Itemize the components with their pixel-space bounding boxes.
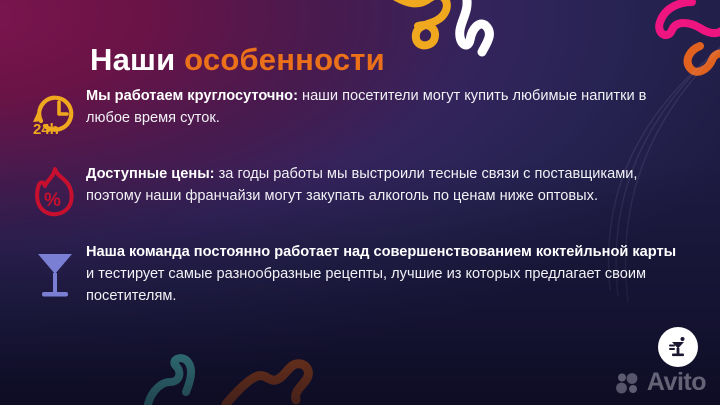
list-item: % Доступные цены: за годы работы мы выст…: [24, 162, 684, 226]
flame-percent-icon: %: [24, 162, 86, 226]
avito-logo-icon: [616, 372, 642, 394]
list-item-body: и тестирует самые разнообразные рецепты,…: [86, 266, 646, 304]
page-title-plain: Наши: [90, 42, 175, 77]
list-item-heading: Наша команда постоянно работает над сове…: [86, 244, 676, 260]
avito-watermark: Avito: [616, 370, 706, 395]
list-item-text: Наша команда постоянно работает над сове…: [86, 240, 684, 308]
cocktail-glass-icon: [24, 240, 86, 308]
decor-squiggle-white: [460, 0, 490, 52]
avito-watermark-text: Avito: [647, 370, 706, 395]
page-title: Наши особенности: [90, 43, 385, 78]
brand-mark-icon: [665, 334, 691, 360]
promo-slide: Наши особенности 24h Мы работаем круглос…: [0, 0, 720, 405]
svg-text:24h: 24h: [33, 121, 59, 138]
page-title-accent: особенности: [184, 42, 385, 77]
flame-percent-icon-svg: %: [33, 166, 77, 218]
list-item-text: Доступные цены: за годы работы мы выстро…: [86, 162, 684, 207]
decor-squiggle-amber: [388, 0, 447, 45]
decor-squiggle-orange-bottom: [226, 364, 308, 404]
svg-text:%: %: [44, 190, 61, 211]
clock-24h-icon-svg: 24h: [31, 88, 79, 138]
decor-squiggle-magenta: [659, 2, 720, 35]
cocktail-glass-icon-svg: [33, 248, 77, 300]
list-item-heading: Доступные цены:: [86, 166, 215, 182]
brand-logo-badge: [658, 327, 698, 367]
list-item: Наша команда постоянно работает над сове…: [24, 240, 684, 308]
features-list: 24h Мы работаем круглосуточно: наши посе…: [24, 84, 684, 322]
decor-squiggle-orange-right: [688, 46, 720, 72]
list-item-heading: Мы работаем круглосуточно:: [86, 88, 298, 104]
clock-24h-icon: 24h: [24, 84, 86, 148]
list-item: 24h Мы работаем круглосуточно: наши посе…: [24, 84, 684, 148]
list-item-text: Мы работаем круглосуточно: наши посетите…: [86, 84, 684, 129]
decor-squiggle-cyan: [148, 358, 191, 404]
